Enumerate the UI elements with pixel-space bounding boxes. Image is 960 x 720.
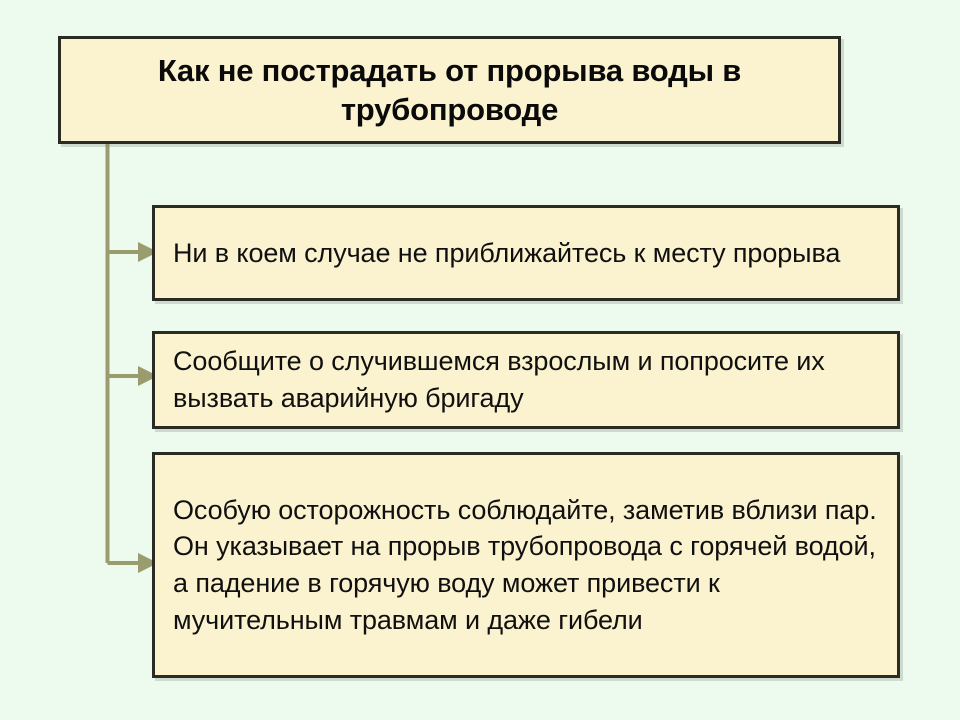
title-text: Как не пострадать от прорыва воды в труб…: [61, 51, 838, 129]
slide-canvas: Как не пострадать от прорыва воды в труб…: [0, 0, 960, 720]
advice-box-1: Ни в коем случае не приближайтесь к мест…: [152, 205, 900, 301]
advice-text-1: Ни в коем случае не приближайтесь к мест…: [155, 235, 858, 272]
title-box: Как не пострадать от прорыва воды в труб…: [58, 36, 841, 144]
advice-text-2: Сообщите о случившемся взрослым и попрос…: [155, 343, 897, 416]
advice-box-2: Сообщите о случившемся взрослым и попрос…: [152, 331, 900, 429]
advice-box-3: Особую осторожность соблюдайте, заметив …: [152, 452, 900, 678]
advice-text-3: Особую осторожность соблюдайте, заметив …: [155, 492, 897, 639]
